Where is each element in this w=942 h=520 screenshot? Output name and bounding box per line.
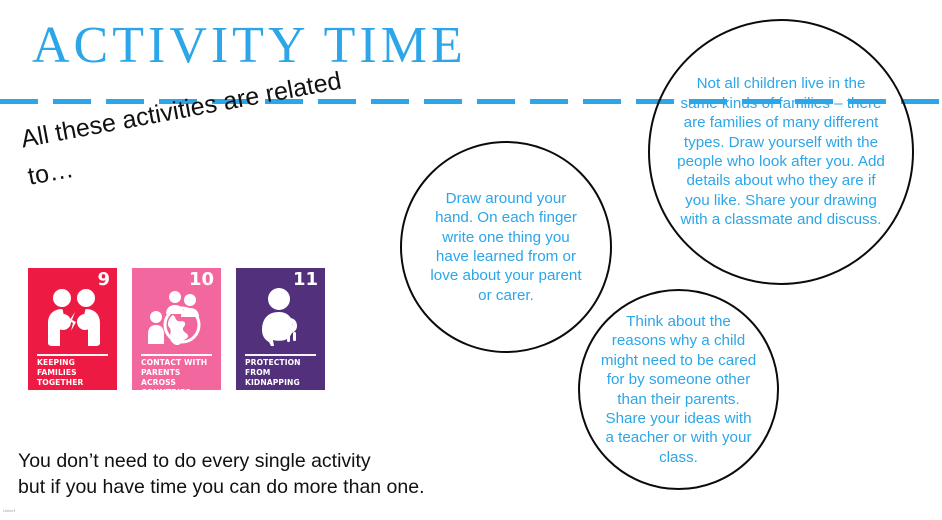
footnote-text: You don’t need to do every single activi… (18, 448, 425, 501)
activity-circle-hand-text: Draw around your hand. On each finger wr… (420, 189, 592, 306)
family-with-globe-icon (132, 286, 221, 348)
activity-circle-reasons: Think about the reasons why a child migh… (578, 289, 779, 490)
adult-holding-child-icon (236, 286, 325, 348)
card-label: KEEPING FAMILIES TOGETHER (37, 358, 112, 388)
subtitle-text: All these activities are related to… (18, 62, 356, 196)
activity-circle-hand: Draw around your hand. On each finger wr… (400, 141, 612, 353)
activity-circle-families: Not all children live in the same kinds … (648, 19, 914, 285)
rights-card-9[interactable]: 9 KEEPING FAMILIES TOGETHER (28, 268, 117, 390)
card-rule (37, 354, 108, 356)
card-rule (245, 354, 316, 356)
rights-card-11[interactable]: 11 PROTECTION FROM KIDNAPPING (236, 268, 325, 390)
two-parents-separating-icon (28, 286, 117, 348)
card-label: CONTACT WITH PARENTS ACROSS COUNTRIES (141, 358, 216, 397)
credit-text: Unicef (3, 508, 15, 513)
activity-circle-reasons-text: Think about the reasons why a child migh… (594, 312, 764, 468)
card-label: PROTECTION FROM KIDNAPPING (245, 358, 320, 388)
page-title: ACTIVITY TIME (32, 16, 467, 76)
rights-card-10[interactable]: 10 (132, 268, 221, 390)
rights-card-group: 9 KEEPING FAMILIES TOGETHER (28, 268, 325, 390)
card-rule (141, 354, 212, 356)
activity-time-slide: ACTIVITY TIME All these activities are r… (0, 0, 942, 520)
activity-circle-families-text: Not all children live in the same kinds … (671, 74, 891, 230)
